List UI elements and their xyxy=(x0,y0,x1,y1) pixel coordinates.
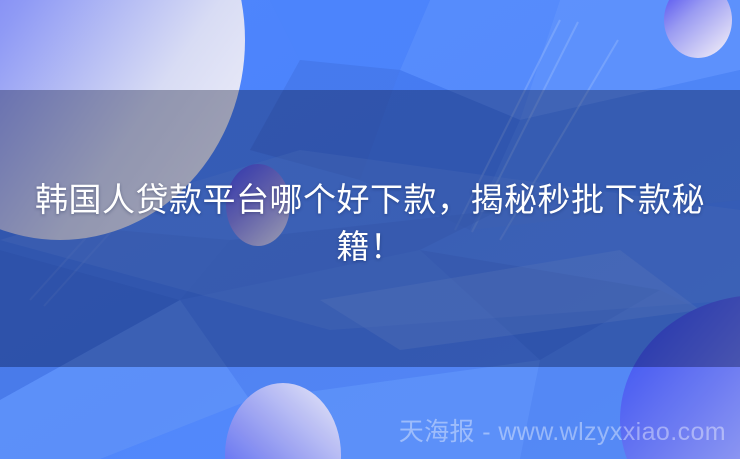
headline-title: 韩国人贷款平台哪个好下款，揭秘秒批下款秘籍！ xyxy=(0,176,740,270)
site-watermark: 天海报 - www.wlzyxxiao.com xyxy=(399,415,726,449)
banner-canvas: 韩国人贷款平台哪个好下款，揭秘秒批下款秘籍！ 天海报 - www.wlzyxxi… xyxy=(0,0,740,459)
